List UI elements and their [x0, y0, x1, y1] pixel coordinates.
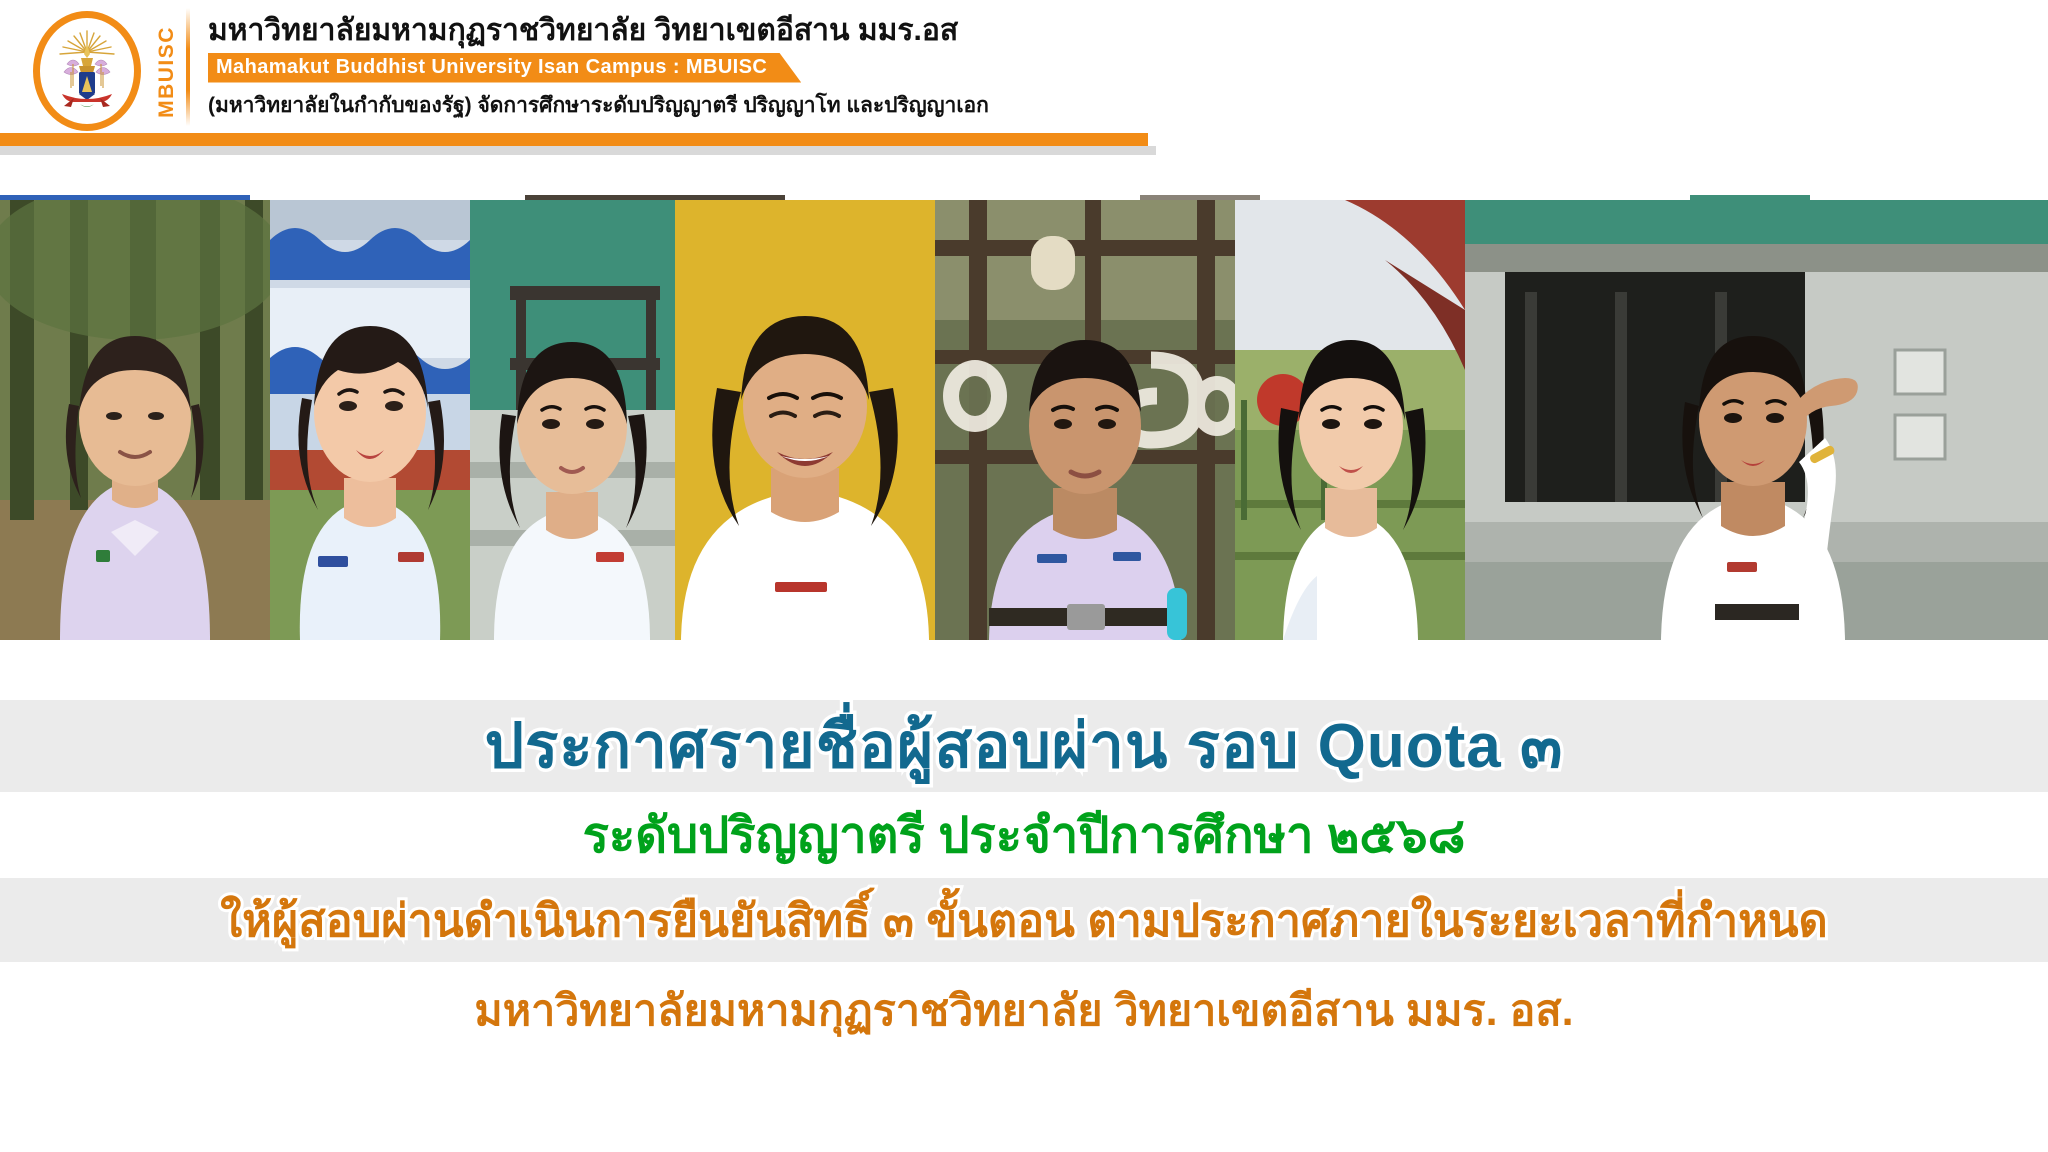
student-photo-strip — [0, 200, 2048, 640]
mbuisc-vertical-text: MBUISC — [155, 26, 179, 118]
header-vertical-divider — [186, 8, 190, 126]
announcement-block: ประกาศรายชื่อผู้สอบผ่าน รอบ Quota ๓ ระดั… — [0, 700, 2048, 1152]
site-header: MBUISC มหาวิทยาลัยมหามกุฏราชวิทยาลัย วิท… — [0, 0, 2048, 140]
student-photo-6 — [1235, 200, 1465, 640]
student-photo-5 — [935, 200, 1235, 640]
student-photo-4 — [675, 200, 935, 640]
university-name-english: Mahamakut Buddhist University Isan Campu… — [208, 53, 801, 83]
announcement-line-2: ระดับปริญญาตรี ประจำปีการศึกษา ๒๕๖๘ — [0, 792, 2048, 878]
announcement-line-3: ให้ผู้สอบผ่านดำเนินการยืนยันสิทธิ์ ๓ ขั้… — [0, 878, 2048, 962]
header-shadow-bar — [0, 146, 1156, 155]
header-orange-bar — [0, 133, 1148, 146]
student-photo-3 — [470, 200, 675, 640]
announcement-line-1: ประกาศรายชื่อผู้สอบผ่าน รอบ Quota ๓ — [0, 700, 2048, 792]
header-text-block: มหาวิทยาลัยมหามกุฏราชวิทยาลัย วิทยาเขตอี… — [208, 8, 2048, 122]
announcement-line-4: มหาวิทยาลัยมหามกุฏราชวิทยาลัย วิทยาเขตอี… — [0, 962, 2048, 1058]
student-photo-2 — [270, 200, 470, 640]
university-name-english-wrap: Mahamakut Buddhist University Isan Campu… — [208, 53, 801, 83]
student-photo-7 — [1465, 200, 2048, 640]
university-tagline-thai: (มหาวิทยาลัยในกำกับของรัฐ) จัดการศึกษาระ… — [208, 89, 2048, 122]
logo-vertical-label: MBUISC — [150, 8, 184, 136]
thai-royal-emblem-icon — [50, 28, 124, 114]
student-photo-1 — [0, 200, 270, 640]
logo-oval-ring — [33, 11, 141, 131]
university-logo — [28, 8, 146, 133]
university-name-thai: มหาวิทยาลัยมหามกุฏราชวิทยาลัย วิทยาเขตอี… — [208, 12, 2048, 50]
